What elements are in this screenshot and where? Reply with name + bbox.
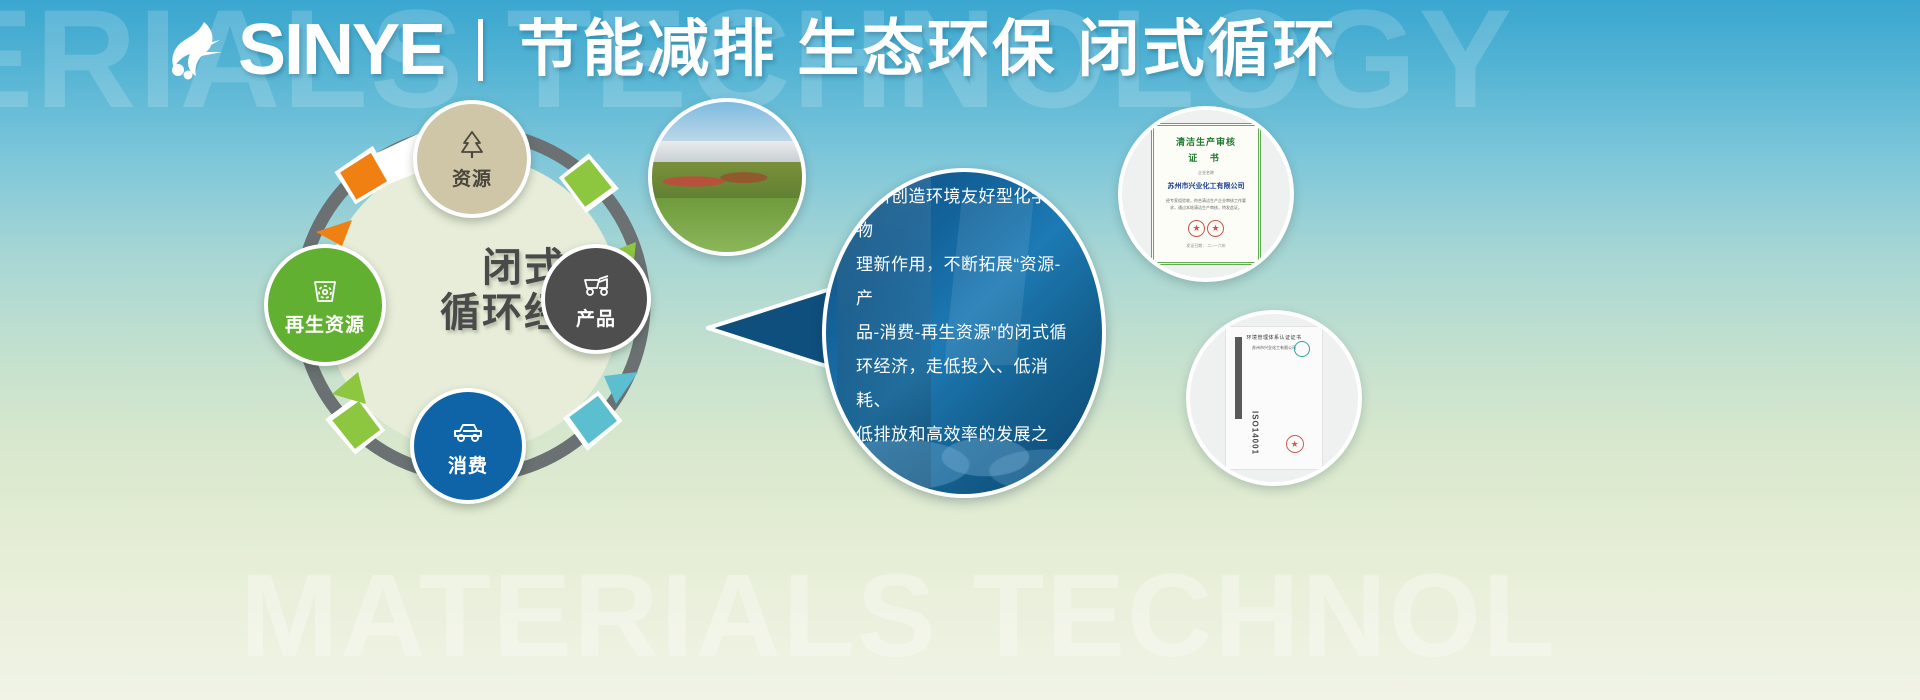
certificate-title: 环境管理体系认证证书 [1246,334,1301,341]
splash-leaf-icon [168,18,226,82]
red-seal-icon: ★ [1188,220,1205,237]
certificate-clean-production[interactable]: 清洁生产审核 证 书 企业名称 苏州市兴业化工有限公司 经专家组验收，符合清洁生… [1118,106,1294,282]
header-divider [478,19,483,81]
cycle-node-product[interactable]: 产品 [541,244,651,354]
certification-body-logo-icon [1294,341,1310,357]
wheelbarrow-icon [579,268,613,302]
header-slogan: 节能减排 生态环保 闭式循环 [517,19,1337,81]
photo-lawn [652,198,802,252]
speech-bubble-text: 不断创造环境友好型化学及物 理新作用，不断拓展“资源-产 品-消费-再生资源”的… [826,172,1102,494]
certificate-title: 清洁生产审核 [1176,135,1236,148]
watermark-bottom-text: MATERIALS TECHNOL [240,548,1557,684]
certificate-subtitle: 证 书 [1188,151,1224,164]
banner-root: ERIALS TECHNOLOGY MATERIALS TECHNOL SINY… [0,0,1920,700]
banner-header: SINYE 节能减排 生态环保 闭式循环 [168,14,1338,86]
cycle-node-consume-label: 消费 [448,451,488,478]
certificate-side-bar [1235,337,1242,420]
certificate-company-name: 苏州市兴业化工有限公司 [1252,345,1296,351]
tree-icon [455,128,489,162]
photo-flowerbed [648,162,806,201]
photo-buildings [652,141,802,162]
bubble-line: 低排放和高效率的发展之路。 [856,418,1072,486]
certificate-paper: 清洁生产审核 证 书 企业名称 苏州市兴业化工有限公司 经专家组验收，符合清洁生… [1151,123,1262,264]
certificate-body-text: 经专家组验收，符合清洁生产企业审核工作要求，通过本轮清洁生产审核，特发此证。 [1165,198,1247,212]
certificate-stamps: ★ ★ [1188,220,1224,237]
certificate-iso-14001[interactable]: 环境管理体系认证证书 苏州市兴业化工有限公司 ISO14001 ★ [1186,310,1362,486]
factory-garden-photo [648,98,806,256]
red-seal-icon: ★ [1207,220,1224,237]
cycle-node-consume[interactable]: 消费 [410,388,526,504]
bubble-line: 不断创造环境友好型化学及物 [856,180,1072,248]
certificate-date: 发证日期： 二○一六年 [1186,243,1226,249]
speech-bubble-body: 不断创造环境友好型化学及物 理新作用，不断拓展“资源-产 品-消费-再生资源”的… [822,168,1106,498]
cycle-node-recycle[interactable]: 再生资源 [264,244,386,366]
red-seal-icon: ★ [1286,435,1304,453]
closed-loop-cycle-diagram: 闭式 循环经济 资源 [272,104,672,504]
bubble-line: 环经济，走低投入、低消耗、 [856,350,1072,418]
cycle-node-product-label: 产品 [576,304,616,331]
cycle-node-resource[interactable]: 资源 [413,100,531,218]
cycle-node-resource-label: 资源 [452,164,492,191]
speech-bubble-tail [706,280,841,370]
bubble-line: 理新作用，不断拓展“资源-产 [856,248,1072,316]
cycle-node-recycle-label: 再生资源 [285,310,365,337]
bubble-line: 品-消费-再生资源”的闭式循 [856,316,1072,350]
certificate-company-name: 苏州市兴业化工有限公司 [1168,181,1245,191]
recycle-bin-icon [308,274,342,308]
brand-wordmark: SINYE [238,14,444,86]
car-icon [451,415,485,449]
certificate-standard: ISO14001 [1250,411,1259,455]
certificate-paper: 环境管理体系认证证书 苏州市兴业化工有限公司 ISO14001 ★ [1225,326,1322,470]
certificate-company-label: 企业名称 [1198,170,1214,176]
